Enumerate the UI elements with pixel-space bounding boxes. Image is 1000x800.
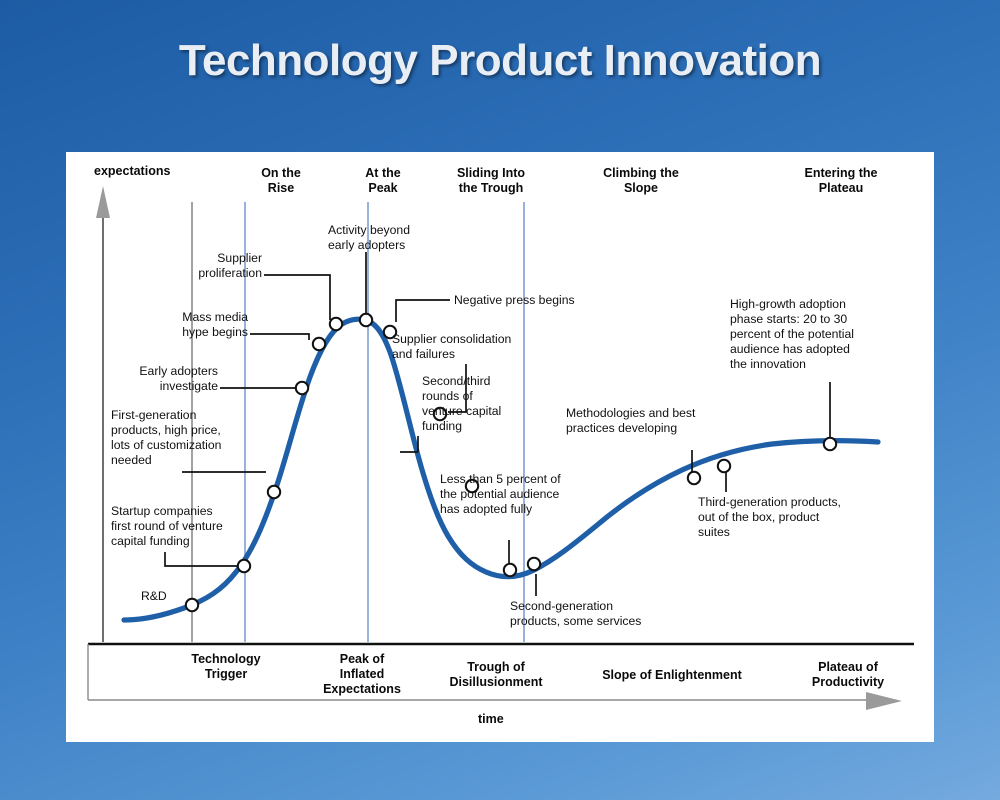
phase-header-on-the-rise: On the Rise — [236, 166, 326, 196]
leader-negative-press — [396, 300, 450, 322]
annotation-negative-press-begins: Negative press begins — [454, 293, 575, 308]
annotation-second-generation-products: Second-generation products, some service… — [510, 599, 641, 629]
annotation-first-generation-products: First-generation products, high price, l… — [111, 408, 221, 468]
annotation-less-than-5-percent: Less than 5 percent of the potential aud… — [440, 472, 561, 517]
annotation-rd: R&D — [141, 589, 167, 604]
y-axis-label: expectations — [94, 164, 170, 178]
y-axis — [96, 186, 110, 642]
phase-header-climbing-the-slope: Climbing the Slope — [566, 166, 716, 196]
x-axis-label: time — [478, 712, 504, 726]
marker-methodologies — [688, 472, 700, 484]
marker-early-adopters — [296, 382, 308, 394]
marker-supplier-prolif — [330, 318, 342, 330]
hype-cycle-chart-panel: expectations On the Rise At the Peak Sli… — [66, 152, 934, 742]
phase-header-at-the-peak: At the Peak — [338, 166, 428, 196]
annotation-supplier-consolidation: Supplier consolidation and failures — [392, 332, 511, 362]
annotation-methodologies-best-practices: Methodologies and best practices develop… — [566, 406, 695, 436]
marker-third-gen — [718, 460, 730, 472]
leader-mass-media — [250, 334, 309, 340]
annotation-mass-media-hype-begins: Mass media hype begins — [130, 310, 248, 340]
phase-footer-technology-trigger: Technology Trigger — [166, 652, 286, 682]
marker-activity-beyond — [360, 314, 372, 326]
leader-supplier-prolif — [264, 275, 330, 320]
marker-high-growth — [824, 438, 836, 450]
phase-header-entering-the-plateau: Entering the Plateau — [766, 166, 916, 196]
phase-footer-trough-of-disillusionment: Trough of Disillusionment — [416, 660, 576, 690]
marker-less-than-5 — [504, 564, 516, 576]
annotation-second-third-rounds: Second/third rounds of venture capital f… — [422, 374, 501, 434]
annotation-activity-beyond-early-adopters: Activity beyond early adopters — [328, 223, 410, 253]
page-title: Technology Product Innovation — [0, 36, 1000, 86]
phase-header-sliding-into-the-trough: Sliding Into the Trough — [426, 166, 556, 196]
annotation-high-growth-adoption: High-growth adoption phase starts: 20 to… — [730, 297, 854, 371]
annotation-early-adopters-investigate: Early adopters investigate — [96, 364, 218, 394]
phase-footer-plateau-of-productivity: Plateau of Productivity — [778, 660, 918, 690]
marker-second-gen — [528, 558, 540, 570]
leader-startup — [165, 552, 238, 566]
phase-footer-peak-of-inflated-expectations: Peak of Inflated Expectations — [302, 652, 422, 696]
annotation-startup-companies: Startup companies first round of venture… — [111, 504, 223, 549]
marker-mass-media — [313, 338, 325, 350]
phase-footer-slope-of-enlightenment: Slope of Enlightenment — [562, 668, 782, 683]
annotation-third-generation-products: Third-generation products, out of the bo… — [698, 495, 841, 540]
annotation-supplier-proliferation: Supplier proliferation — [154, 251, 262, 281]
marker-rd — [186, 599, 198, 611]
marker-startup — [238, 560, 250, 572]
marker-first-gen — [268, 486, 280, 498]
